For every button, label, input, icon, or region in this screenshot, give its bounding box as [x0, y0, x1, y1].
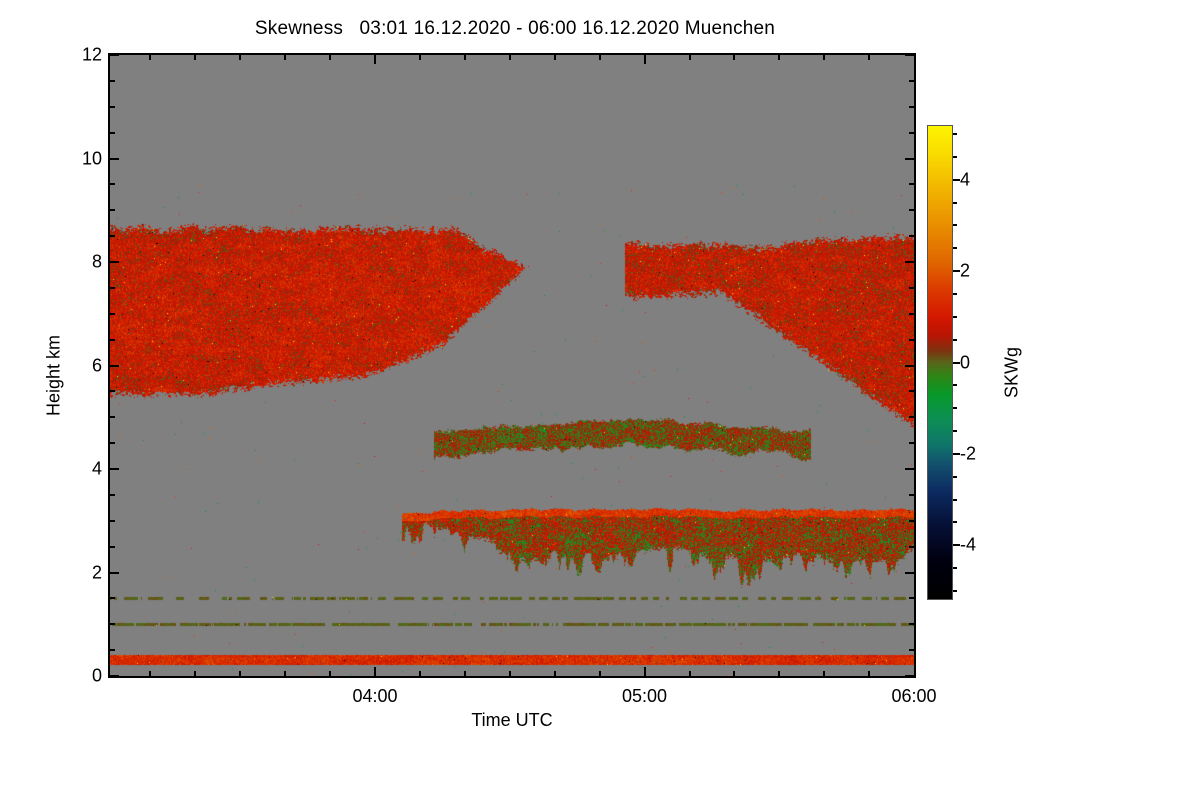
- y-axis-tick: [110, 365, 119, 367]
- x-axis-tick: [554, 55, 556, 60]
- colorbar-tick: [953, 476, 957, 478]
- x-axis-tick: [778, 55, 780, 60]
- x-axis-tick: [554, 671, 556, 676]
- y-axis-tick: [909, 80, 914, 82]
- colorbar-tick: [953, 590, 957, 592]
- x-axis-tick: [868, 55, 870, 60]
- colorbar-tick: [953, 544, 960, 546]
- x-axis-tick: [823, 671, 825, 676]
- colorbar-tick: [953, 202, 957, 204]
- colorbar-tick: [953, 362, 960, 364]
- colorbar-tick-labels: -4-2024: [960, 125, 994, 600]
- x-axis-tick: [329, 55, 331, 60]
- x-axis-tick: [733, 671, 735, 676]
- y-axis-tick: [110, 675, 119, 677]
- colorbar-tick: [953, 339, 957, 341]
- y-axis-tick: [110, 442, 115, 444]
- y-axis-tick: [110, 520, 115, 522]
- colorbar-gradient: [927, 125, 953, 600]
- y-axis-tick: [110, 494, 115, 496]
- y-axis-tick: [110, 183, 115, 185]
- x-axis-tick: [689, 671, 691, 676]
- y-axis-tick: [110, 416, 115, 418]
- x-axis-tick: [149, 671, 151, 676]
- y-axis-tick: [909, 209, 914, 211]
- y-axis-tick: [909, 416, 914, 418]
- y-axis-tick: [909, 390, 914, 392]
- colorbar-tick: [953, 453, 960, 455]
- y-axis-tick-label: 10: [82, 148, 102, 169]
- y-axis-tick: [110, 339, 115, 341]
- y-axis-tick: [909, 235, 914, 237]
- x-axis-tick: [644, 667, 646, 676]
- colorbar-tick: [953, 293, 957, 295]
- y-axis-tick-label: 2: [92, 562, 102, 583]
- y-axis-tick-label: 6: [92, 355, 102, 376]
- y-axis-tick: [905, 468, 914, 470]
- page-title: Skewness 03:01 16.12.2020 - 06:00 16.12.…: [0, 18, 1030, 40]
- colorbar-tick: [953, 567, 957, 569]
- y-axis-tick: [110, 572, 119, 574]
- y-axis-tick: [909, 494, 914, 496]
- x-axis-tick: [464, 671, 466, 676]
- y-axis-tick: [110, 287, 115, 289]
- y-axis-tick: [110, 597, 115, 599]
- y-axis-tick: [905, 572, 914, 574]
- x-axis-tick: [644, 55, 646, 64]
- y-axis-tick: [909, 623, 914, 625]
- x-axis-tick: [868, 671, 870, 676]
- y-axis-tick: [909, 313, 914, 315]
- y-axis-tick: [110, 623, 115, 625]
- y-axis-tick-labels: 024681012: [58, 0, 102, 800]
- x-axis-tick: [599, 671, 601, 676]
- y-axis-tick-label: 4: [92, 459, 102, 480]
- x-axis-tick: [419, 55, 421, 60]
- y-axis-tick: [110, 546, 115, 548]
- x-axis-tick: [149, 55, 151, 60]
- y-axis-tick: [905, 675, 914, 677]
- y-axis-tick-label: 8: [92, 252, 102, 273]
- x-axis-label: Time UTC: [108, 710, 916, 731]
- x-axis-tick: [599, 55, 601, 60]
- colorbar-tick: [953, 384, 957, 386]
- colorbar-tick: [953, 179, 960, 181]
- y-axis-tick: [905, 365, 914, 367]
- y-axis-tick: [905, 54, 914, 56]
- x-axis-tick: [823, 55, 825, 60]
- y-axis-tick: [110, 158, 119, 160]
- colorbar-label: SKWg: [1002, 313, 1023, 433]
- y-axis-tick: [909, 520, 914, 522]
- colorbar-tick: [953, 270, 960, 272]
- y-axis-tick: [909, 339, 914, 341]
- x-axis-tick: [689, 55, 691, 60]
- x-axis-tick: [509, 671, 511, 676]
- y-axis-tick: [909, 106, 914, 108]
- colorbar-tick: [953, 316, 957, 318]
- y-axis-tick: [909, 442, 914, 444]
- x-axis-tick: [374, 55, 376, 64]
- colorbar-tick: [953, 156, 957, 158]
- y-axis-tick: [110, 390, 115, 392]
- colorbar-tick: [953, 133, 957, 135]
- colorbar-tick: [953, 407, 957, 409]
- y-axis-tick: [110, 106, 115, 108]
- x-axis-tick: [239, 55, 241, 60]
- colorbar[interactable]: [927, 125, 953, 600]
- x-axis-tick: [464, 55, 466, 60]
- colorbar-tick: [953, 521, 957, 523]
- x-axis-tick: [419, 671, 421, 676]
- y-axis-tick: [909, 183, 914, 185]
- colorbar-tick: [953, 247, 957, 249]
- y-axis-label: Height km: [44, 316, 65, 436]
- y-axis-tick: [110, 54, 119, 56]
- y-axis-tick: [909, 597, 914, 599]
- y-axis-tick: [110, 235, 115, 237]
- colorbar-tick-label: 4: [960, 169, 970, 190]
- colorbar-tick-label: 2: [960, 261, 970, 282]
- y-axis-tick-label: 0: [92, 666, 102, 687]
- x-axis-tick: [239, 671, 241, 676]
- colorbar-tick: [953, 430, 957, 432]
- y-axis-tick: [110, 80, 115, 82]
- x-axis-tick: [329, 671, 331, 676]
- y-axis-tick: [110, 132, 115, 134]
- x-axis-tick: [194, 55, 196, 60]
- x-axis-tick: [284, 671, 286, 676]
- x-axis-tick: [284, 55, 286, 60]
- x-axis-tick: [733, 55, 735, 60]
- x-axis-tick: [778, 671, 780, 676]
- y-axis-tick: [110, 649, 115, 651]
- x-axis-tick: [509, 55, 511, 60]
- y-axis-tick: [110, 209, 115, 211]
- x-axis-tick-label: 06:00: [891, 686, 936, 707]
- y-axis-tick: [110, 261, 119, 263]
- colorbar-tick-label: -4: [960, 535, 976, 556]
- colorbar-tick-label: -2: [960, 443, 976, 464]
- skewness-time-height-figure: Skewness 03:01 16.12.2020 - 06:00 16.12.…: [0, 0, 1200, 800]
- colorbar-tick-label: 0: [960, 352, 970, 373]
- x-axis-tick: [374, 667, 376, 676]
- y-axis-tick: [909, 649, 914, 651]
- y-axis-tick: [110, 468, 119, 470]
- heatmap-canvas[interactable]: [110, 55, 914, 676]
- colorbar-tick: [953, 224, 957, 226]
- colorbar-tick: [953, 499, 957, 501]
- plot-area[interactable]: [108, 53, 916, 678]
- y-axis-tick-label: 12: [82, 45, 102, 66]
- y-axis-tick: [909, 546, 914, 548]
- y-axis-tick: [909, 132, 914, 134]
- x-axis-tick: [194, 671, 196, 676]
- x-axis-tick-label: 05:00: [622, 686, 667, 707]
- x-axis-tick-label: 04:00: [352, 686, 397, 707]
- y-axis-tick: [905, 261, 914, 263]
- y-axis-tick: [909, 287, 914, 289]
- y-axis-tick: [905, 158, 914, 160]
- y-axis-tick: [110, 313, 115, 315]
